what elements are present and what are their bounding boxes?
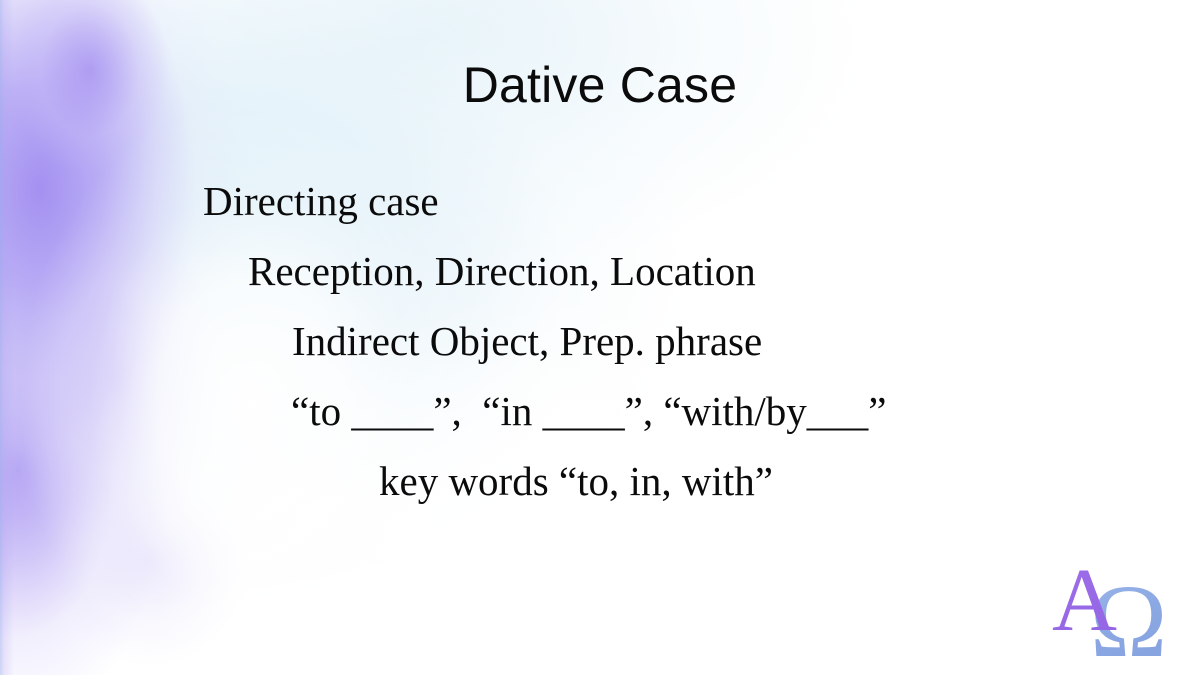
slide-title: Dative Case — [0, 54, 1200, 116]
alpha-omega-logo-svg: Ω Α — [1052, 548, 1190, 666]
slide-canvas: Dative Case Directing case Reception, Di… — [0, 0, 1200, 675]
slide-body: Directing case Reception, Direction, Loc… — [0, 166, 1200, 516]
alpha-glyph: Α — [1052, 551, 1117, 650]
body-line-indirect-object-prep-phrase: Indirect Object, Prep. phrase — [0, 306, 1200, 376]
body-line-key-words: key words “to, in, with” — [0, 446, 1200, 516]
alpha-omega-logo: Ω Α — [1052, 548, 1190, 666]
body-line-prepositional-blanks: “to ____”, “in ____”, “with/by___” — [0, 376, 1200, 446]
body-line-reception-direction-location: Reception, Direction, Location — [0, 236, 1200, 306]
body-line-directing-case: Directing case — [0, 166, 1200, 236]
svg-text:Α: Α — [1052, 551, 1117, 650]
